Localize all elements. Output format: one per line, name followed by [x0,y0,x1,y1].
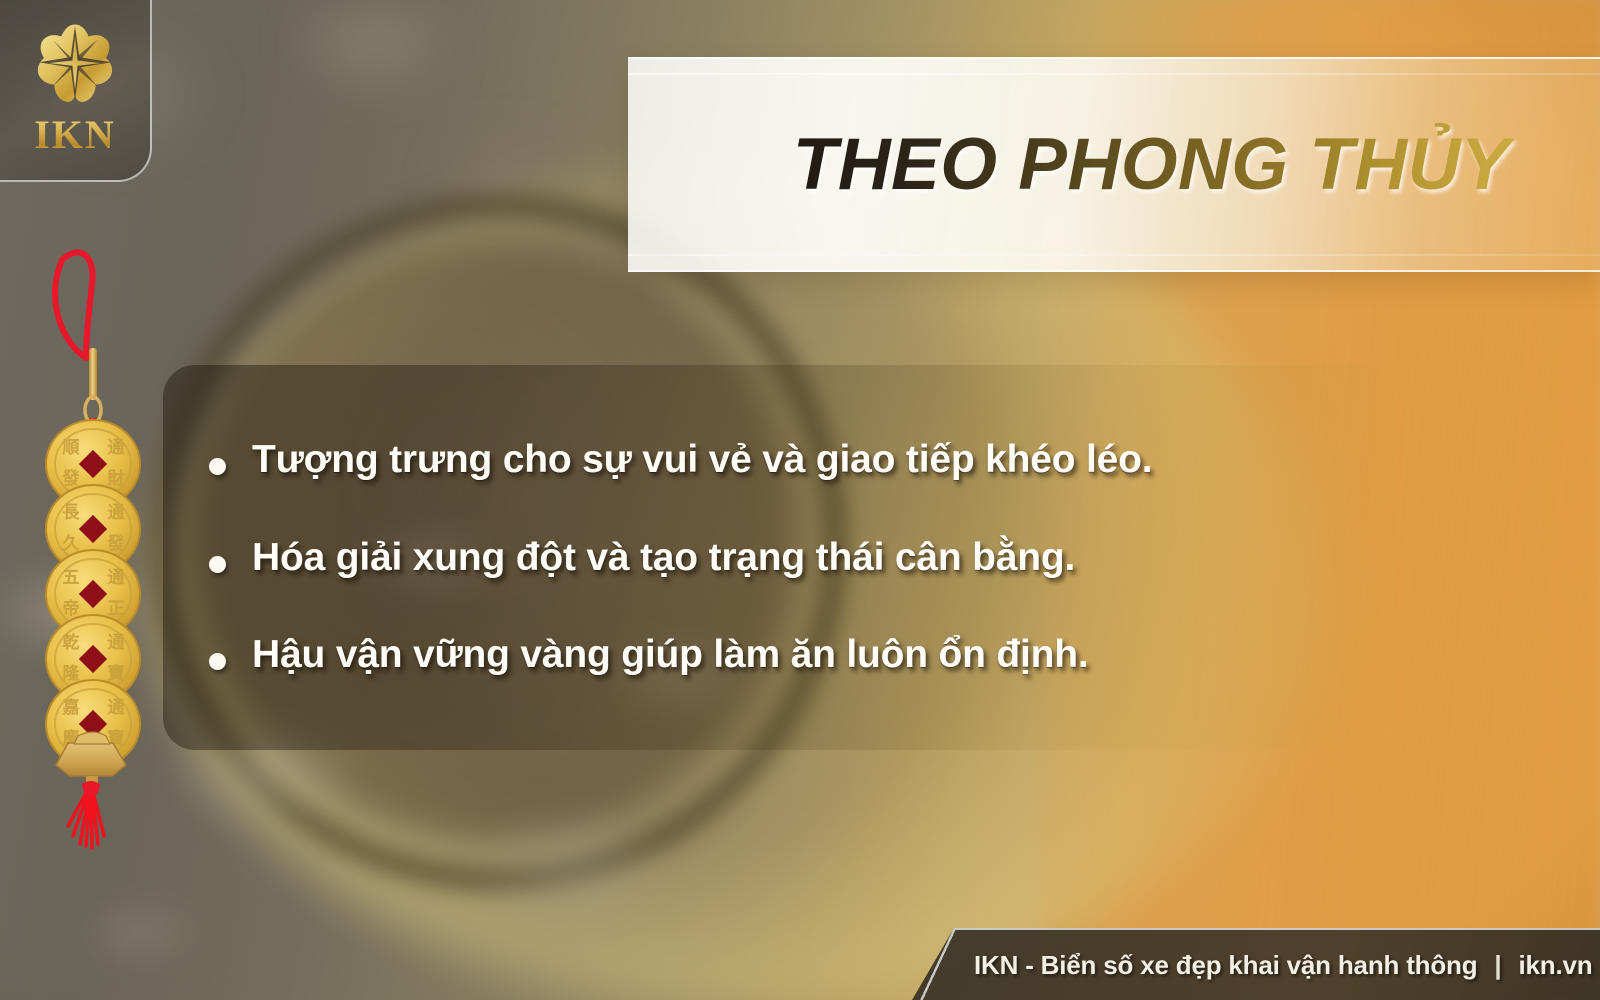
svg-text:五: 五 [63,568,80,588]
six-pointed-star-icon [32,21,118,107]
footer-website[interactable]: ikn.vn [1518,950,1592,981]
svg-text:通: 通 [108,568,125,588]
list-item: Tượng trưng cho sự vui vẻ và giao tiếp k… [181,436,1355,484]
svg-text:嘉: 嘉 [62,697,80,718]
svg-text:發: 發 [62,468,80,489]
svg-text:財: 財 [107,468,125,489]
bullet-dot-icon [209,653,226,670]
svg-text:長: 長 [63,503,81,523]
list-item-label: Hậu vận vững vàng giúp làm ăn luôn ổn đị… [252,631,1089,679]
svg-text:帝: 帝 [63,598,80,619]
benefits-card: Tượng trưng cho sự vui vẻ và giao tiếp k… [163,365,1395,750]
bullet-dot-icon [209,458,226,475]
footer-tagline: IKN - Biển số xe đẹp khai vận hanh thông [974,950,1477,981]
list-item: Hậu vận vững vàng giúp làm ăn luôn ổn đị… [181,631,1355,679]
five-chinese-coins-charm-icon: 順通 發財 長通 久發 [38,238,148,853]
title-banner: THEO PHONG THỦY [628,57,1600,272]
list-item-label: Hóa giải xung đột và tạo trạng thái cân … [252,534,1075,582]
svg-text:通: 通 [108,503,125,523]
svg-text:通: 通 [108,698,125,718]
brand-logo-panel[interactable]: IKN [0,0,152,182]
svg-text:隆: 隆 [63,663,81,684]
svg-text:通: 通 [108,633,125,653]
svg-text:乾: 乾 [63,632,80,653]
footer-separator: | [1494,950,1501,981]
svg-text:正: 正 [108,599,125,619]
brand-wordmark: IKN [34,111,116,158]
footer-content: IKN - Biển số xe đẹp khai vận hanh thông… [912,950,1592,981]
slide-canvas: IKN [0,0,1600,1000]
svg-text:順: 順 [63,438,81,458]
svg-text:發: 發 [107,533,125,554]
footer-bar: IKN - Biển số xe đẹp khai vận hanh thông… [912,928,1600,1000]
svg-text:通: 通 [108,438,125,458]
svg-text:寶: 寶 [108,663,125,684]
page-title: THEO PHONG THỦY [793,123,1600,206]
list-item-label: Tượng trưng cho sự vui vẻ và giao tiếp k… [252,436,1152,484]
list-item: Hóa giải xung đột và tạo trạng thái cân … [181,534,1355,582]
bullet-dot-icon [209,556,226,573]
svg-text:久: 久 [63,533,80,554]
